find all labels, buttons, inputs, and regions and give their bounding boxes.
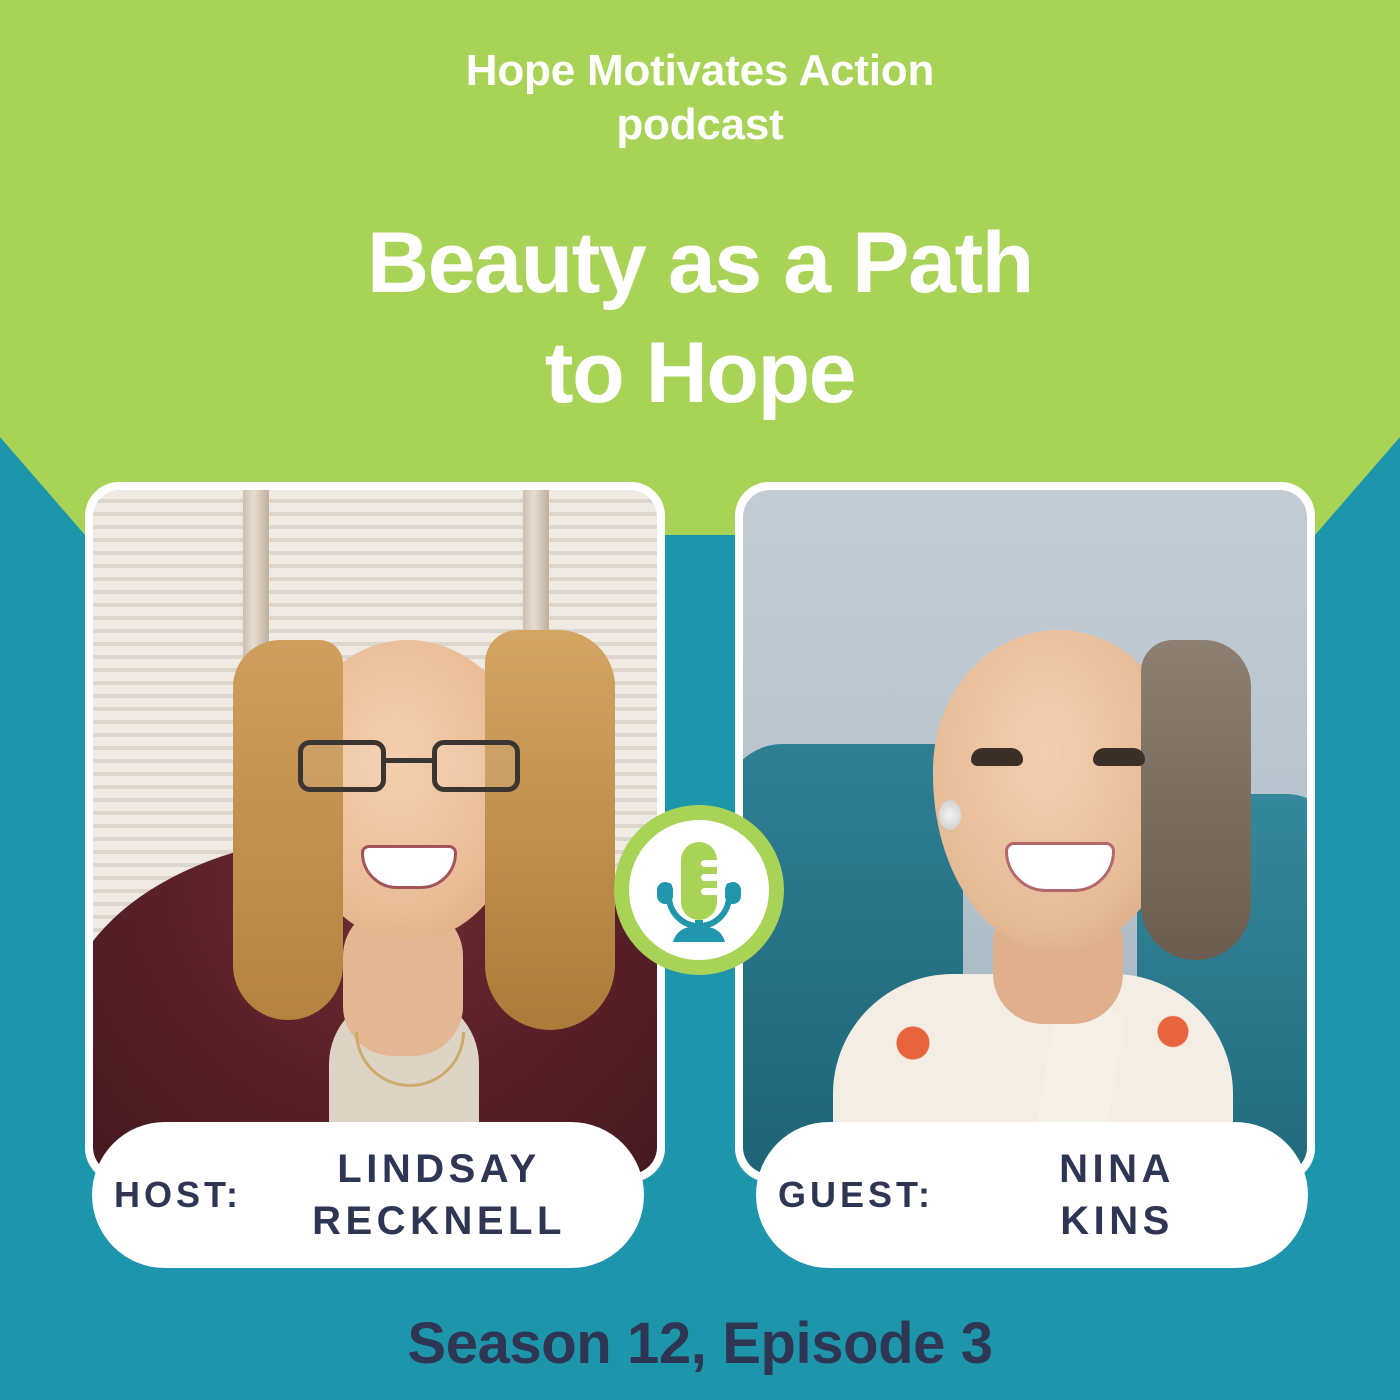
- host-name: LINDSAY RECKNELL: [242, 1143, 644, 1247]
- guest-name: NINA KINS: [934, 1143, 1308, 1247]
- glasses-lens-left: [298, 740, 386, 792]
- guest-photo: [743, 490, 1307, 1174]
- guest-photo-card: [735, 482, 1315, 1182]
- host-hair-strand-right: [485, 630, 615, 1030]
- host-glasses: [298, 740, 520, 794]
- glasses-bridge: [386, 758, 432, 763]
- host-photo-card: [85, 482, 665, 1182]
- guest-role-label: GUEST:: [778, 1174, 934, 1216]
- host-name-pill: HOST: LINDSAY RECKNELL: [92, 1122, 644, 1268]
- host-photo: [93, 490, 657, 1174]
- host-role-label: HOST:: [114, 1174, 242, 1216]
- host-hair-strand-left: [233, 640, 343, 1020]
- show-name-line-1: Hope Motivates Action: [0, 44, 1400, 98]
- show-name-line-2: podcast: [0, 98, 1400, 152]
- episode-title-line-2: to Hope: [180, 318, 1220, 428]
- guest-eye-left: [971, 748, 1023, 766]
- episode-title: Beauty as a Path to Hope: [180, 208, 1220, 428]
- guest-name-line-2: KINS: [1060, 1199, 1174, 1243]
- host-name-line-1: LINDSAY: [337, 1147, 540, 1191]
- microphone-icon: [655, 838, 743, 942]
- podcast-cover-art: Hope Motivates Action podcast Beauty as …: [0, 0, 1400, 1400]
- guest-hair-strand: [1141, 640, 1251, 960]
- glasses-lens-right: [432, 740, 520, 792]
- guest-name-pill: GUEST: NINA KINS: [756, 1122, 1308, 1268]
- guest-earring: [939, 800, 961, 830]
- host-name-line-2: RECKNELL: [312, 1199, 566, 1243]
- microphone-badge: [614, 805, 784, 975]
- guest-name-line-1: NINA: [1059, 1147, 1175, 1191]
- guest-eye-right: [1093, 748, 1145, 766]
- season-episode-label: Season 12, Episode 3: [0, 1310, 1400, 1377]
- show-name: Hope Motivates Action podcast: [0, 44, 1400, 151]
- episode-title-line-1: Beauty as a Path: [180, 208, 1220, 318]
